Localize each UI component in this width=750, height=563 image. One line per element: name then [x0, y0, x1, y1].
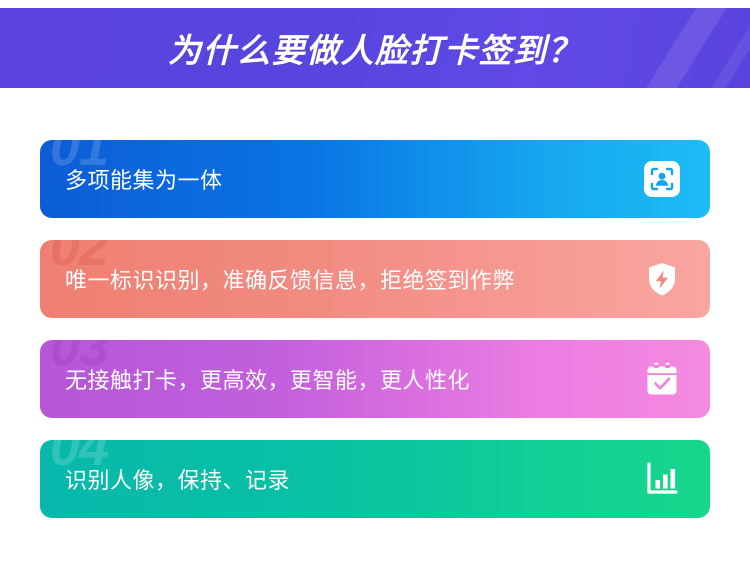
- calendar-check-icon: [642, 359, 682, 399]
- feature-card-04[interactable]: 04 识别人像，保持、记录: [40, 440, 710, 518]
- header-banner: 为什么要做人脸打卡签到？: [0, 8, 750, 88]
- header-light-streak-icon: [616, 8, 739, 88]
- card-label: 多项能集为一体: [65, 163, 223, 195]
- header-light-streak-secondary-icon: [679, 8, 750, 88]
- page-title: 为什么要做人脸打卡签到？: [168, 24, 582, 72]
- card-label: 唯一标识识别，准确反馈信息，拒绝签到作弊: [65, 263, 515, 295]
- feature-card-03[interactable]: 03 无接触打卡，更高效，更智能，更人性化: [40, 340, 710, 418]
- promo-page: 为什么要做人脸打卡签到？ 01 多项能集为一体 02 唯一标: [0, 0, 750, 563]
- bar-chart-icon: [642, 459, 682, 499]
- feature-card-01[interactable]: 01 多项能集为一体: [40, 140, 710, 218]
- feature-card-list: 01 多项能集为一体 02 唯一标识识别，准确反馈信息，拒绝签到作弊: [40, 140, 710, 518]
- face-scan-icon: [642, 159, 682, 199]
- card-label: 识别人像，保持、记录: [65, 463, 290, 495]
- feature-card-02[interactable]: 02 唯一标识识别，准确反馈信息，拒绝签到作弊: [40, 240, 710, 318]
- card-label: 无接触打卡，更高效，更智能，更人性化: [65, 363, 470, 395]
- shield-bolt-icon: [642, 259, 682, 299]
